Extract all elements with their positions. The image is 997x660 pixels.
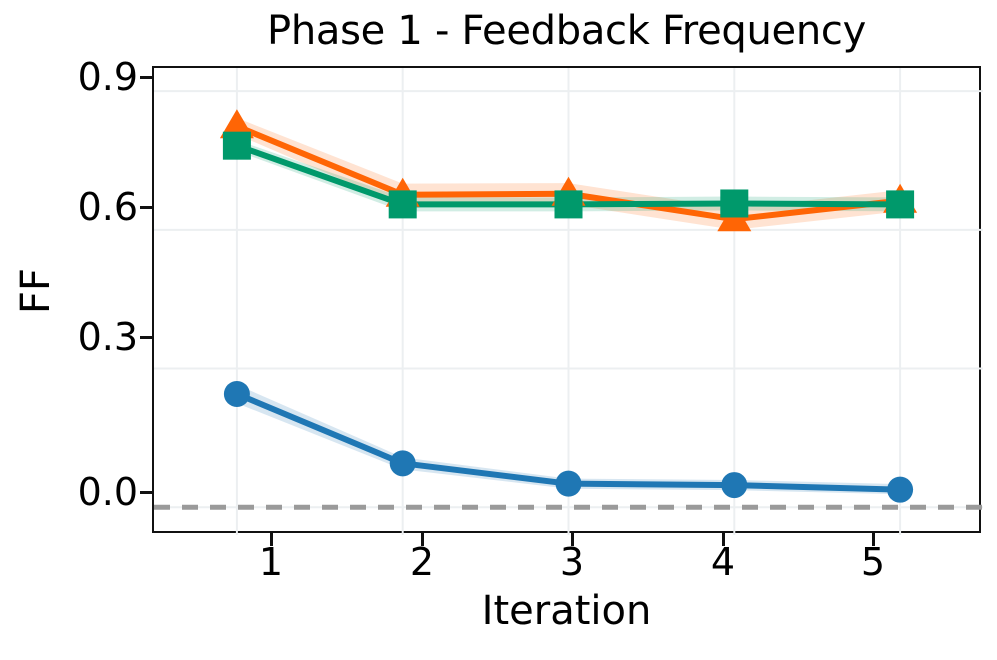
marker-series-green-3 — [555, 190, 583, 218]
y-tick-mark-3 — [140, 76, 152, 79]
marker-series-green-2 — [389, 190, 417, 218]
marker-series-blue-3 — [556, 471, 582, 497]
x-tick-label-0: 1 — [259, 540, 283, 584]
chart-title: Phase 1 - Feedback Frequency — [152, 8, 981, 54]
y-tick-label-2: 0.6 — [78, 185, 138, 229]
plot-area — [152, 66, 981, 533]
chart-figure: Phase 1 - Feedback Frequency 0.0 0.3 0.6… — [0, 0, 997, 660]
y-tick-label-3: 0.9 — [78, 55, 138, 99]
y-tick-mark-0 — [140, 491, 152, 494]
plot-svg — [154, 68, 983, 535]
x-tick-label-3: 4 — [711, 540, 735, 584]
marker-series-blue-5 — [887, 477, 913, 503]
y-tick-label-1: 0.3 — [78, 315, 138, 359]
marker-series-green-5 — [886, 190, 914, 218]
y-tick-mark-2 — [140, 206, 152, 209]
y-axis-label: FF — [13, 231, 59, 351]
x-axis-label: Iteration — [152, 588, 981, 634]
y-tick-label-0: 0.0 — [78, 470, 138, 514]
x-tick-label-4: 5 — [861, 540, 885, 584]
marker-series-green-1 — [223, 132, 251, 160]
marker-series-blue-1 — [224, 381, 250, 407]
y-tick-mark-1 — [140, 336, 152, 339]
marker-series-blue-4 — [721, 472, 747, 498]
x-tick-label-1: 2 — [410, 540, 434, 584]
marker-series-green-4 — [720, 189, 748, 217]
marker-series-blue-2 — [390, 450, 416, 476]
x-tick-label-2: 3 — [560, 540, 584, 584]
